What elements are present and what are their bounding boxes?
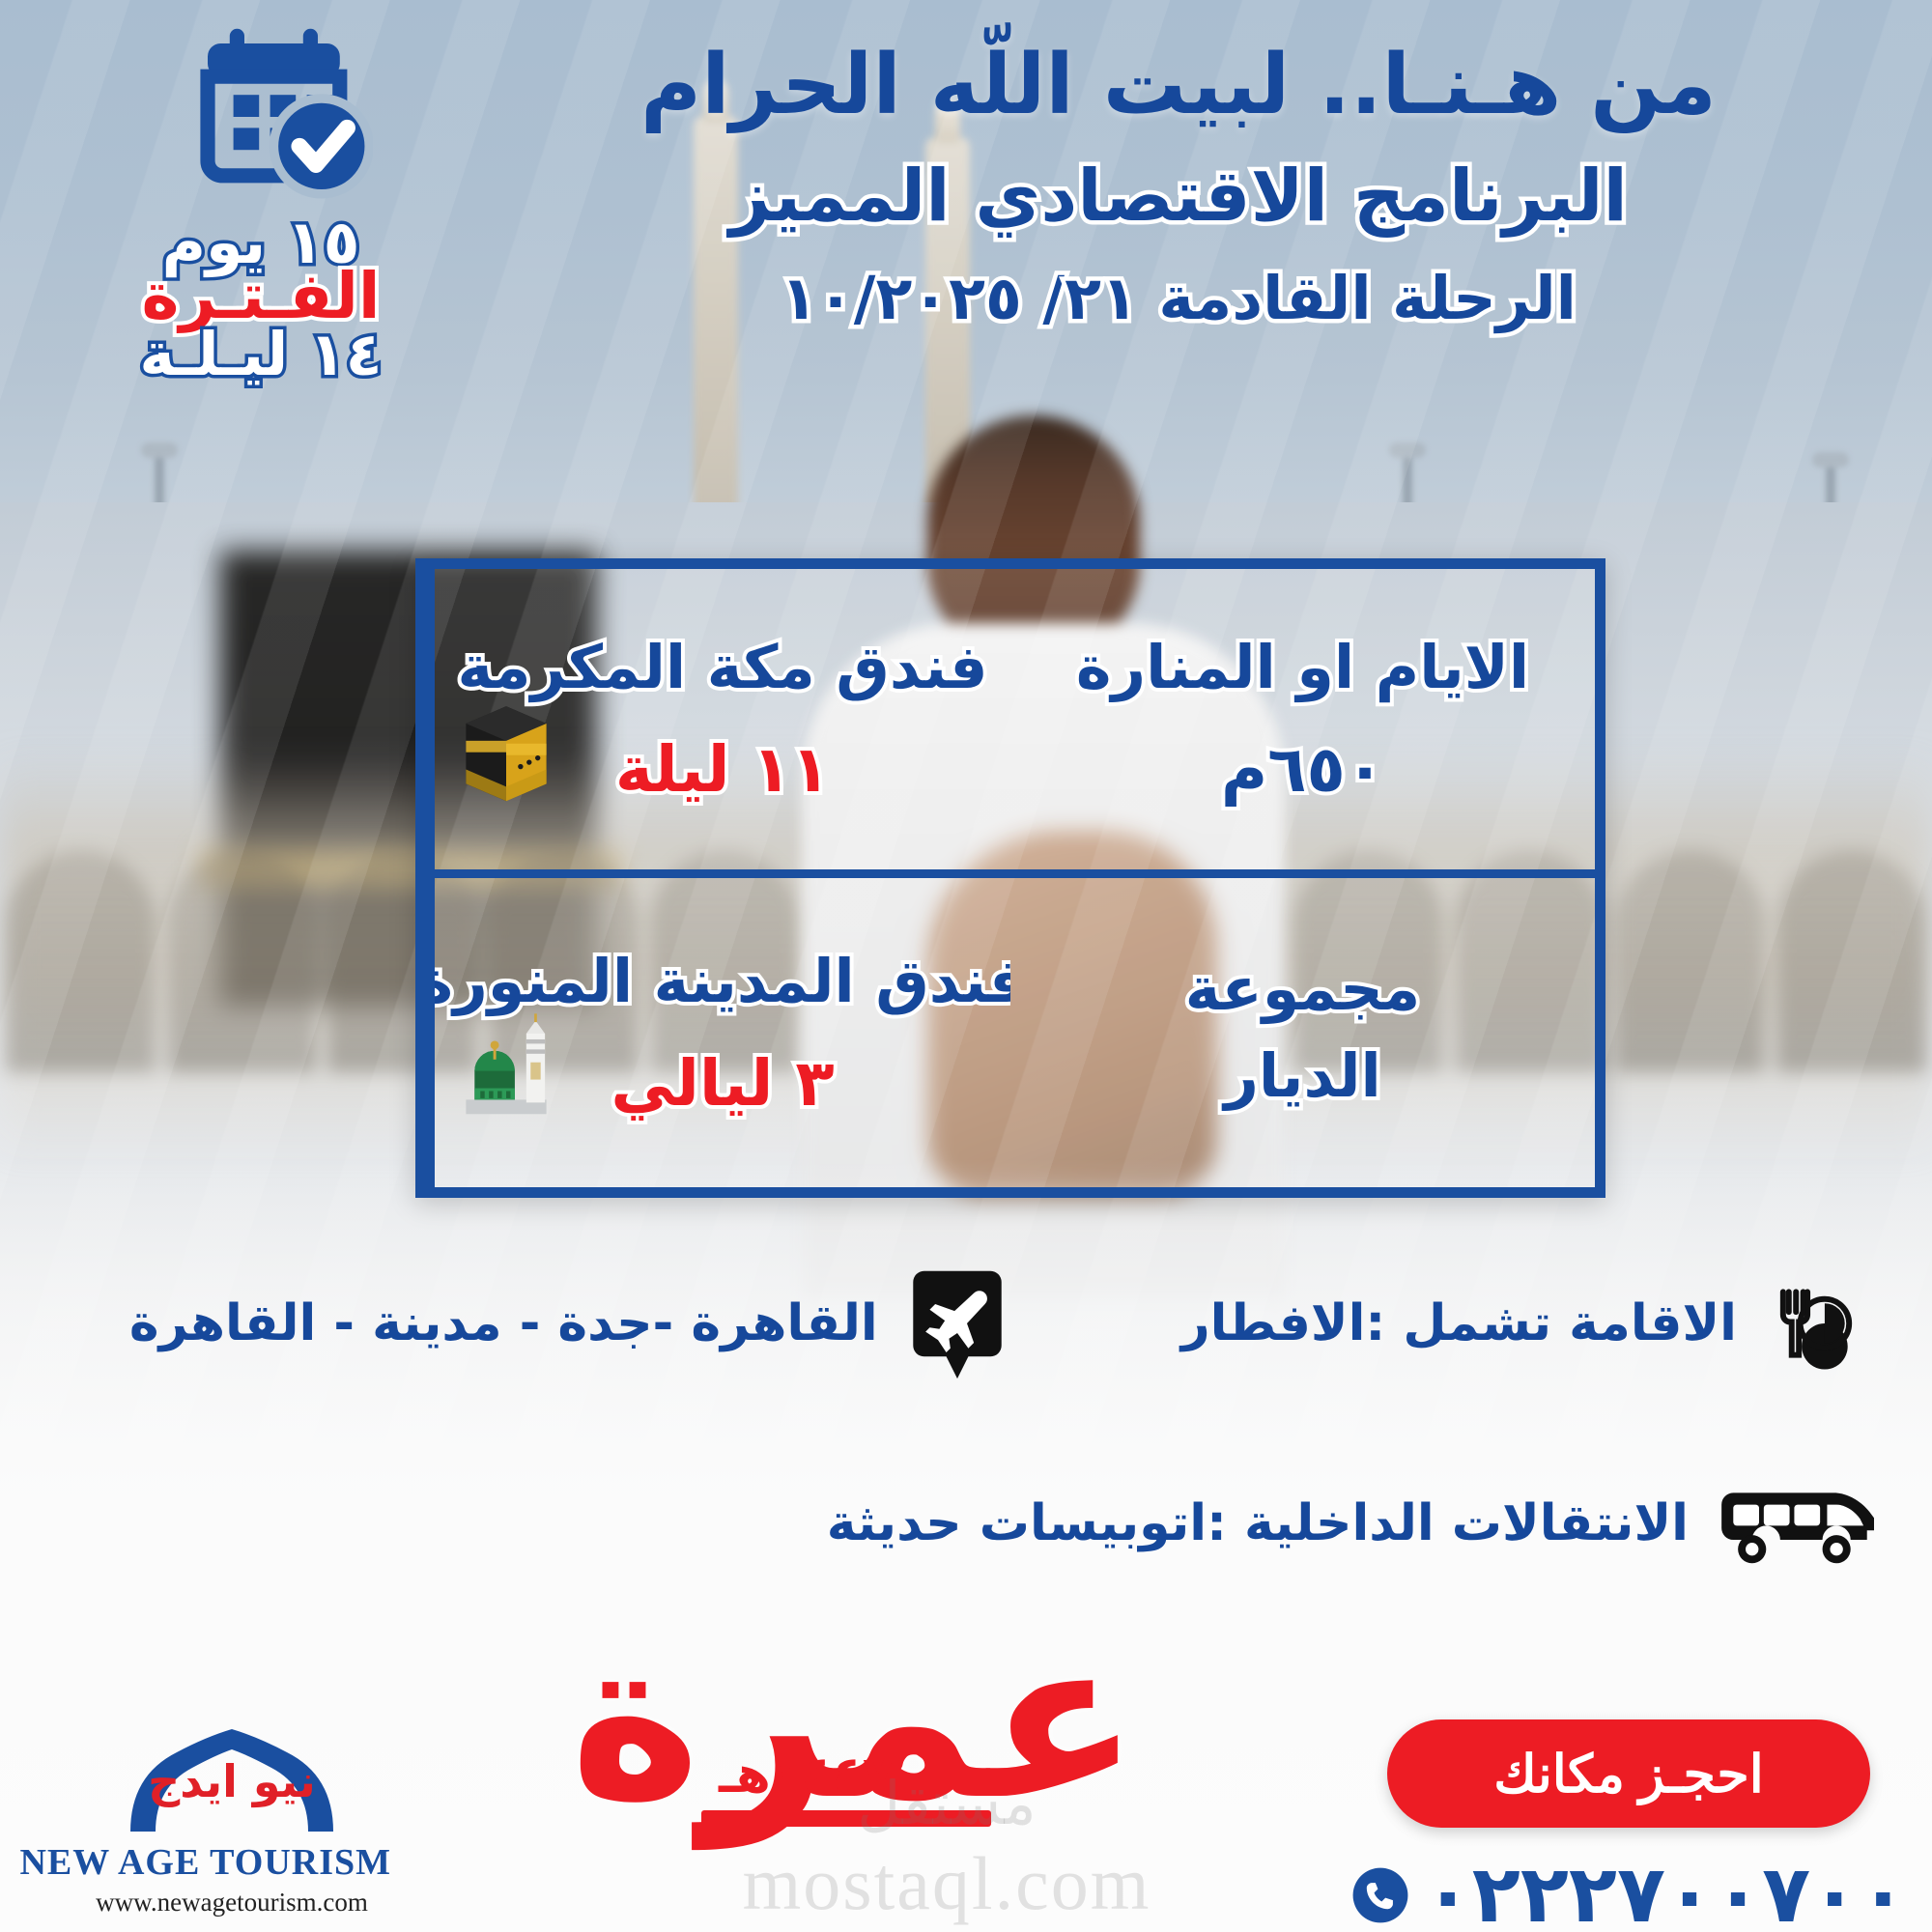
dome-logo-icon: نيو ايدج [111,1727,353,1835]
hotels-table: الايام او المنارة ٦٥٠م فندق مكة المكرمة … [415,558,1605,1198]
makkah-hotel-title: فندق مكة المكرمة [457,633,987,702]
page-title: من هـنـا.. لبيت اللّه الحرام [464,39,1893,131]
fork-plate-icon [1758,1270,1874,1377]
features-section: الاقامة تشمل :الافطار القاهرة -جدة - مدي… [0,1256,1932,1596]
next-trip-date: الرحلة القادمة ٢١/ ١٠/٢٠٢٥ [464,263,1893,333]
umrah-hijri-year: ١٤٤٧هـ [719,1747,894,1804]
makkah-hotel-options: الايام او المنارة [1076,633,1529,702]
contact-phone-number[interactable]: ٠٢٢٢٧٠٠٧٠٠ [1424,1849,1908,1932]
kaaba-icon [460,700,553,807]
duration-nights: ١٤ ليـلـة [77,319,444,389]
flight-route-group: القاهرة -جدة - مدينة - القاهرة [108,1270,1015,1377]
internal-transport-text: الانتقالات الداخلية :اتوبيسات حديثة [806,1494,1710,1552]
makkah-hotel-distance: ٦٥٠م [1221,735,1384,806]
phone-icon [1350,1865,1410,1925]
feature-row-transport: الانتقالات الداخلية :اتوبيسات حديثة [0,1451,1932,1596]
airplane-pin-icon [899,1270,1015,1377]
table-cell-makkah-hotel-name: الايام او المنارة ٦٥٠م [1010,569,1595,878]
cta-block: احجـز مكانك ٠٢٢٢٧٠٠٧٠٠ [1387,1719,1870,1932]
logo-website-url: www.newagetourism.com [72,1888,391,1918]
company-logo-block[interactable]: نيو ايدج NEW AGE TOURISM www.newagetouri… [72,1727,391,1918]
madinah-hotel-group-line1: مجموعة [1185,954,1420,1024]
table-cell-madinah-hotel-name: مجموعة الديار [1010,878,1595,1187]
headline-group: من هـنـا.. لبيت اللّه الحرام البرنامج ال… [464,39,1893,333]
madinah-hotel-nights: ٣ ليالي [611,1049,834,1120]
logo-arabic-name: نيو ايدج [148,1755,316,1807]
bus-icon [1710,1470,1874,1577]
feature-row-meals-flight: الاقامة تشمل :الافطار القاهرة -جدة - مدي… [0,1256,1932,1391]
makkah-hotel-nights: ١١ ليلة [615,735,830,806]
poster-root: ١٥ يوم الفـتـرة ١٤ ليـلـة من هـنـا.. لبي… [0,0,1932,1932]
program-subtitle: البرنامج الاقتصادي المميز [464,155,1893,238]
green-dome-mosque-icon [460,1013,553,1120]
phone-row[interactable]: ٠٢٢٢٧٠٠٧٠٠ [1387,1849,1870,1932]
book-your-place-button[interactable]: احجـز مكانك [1387,1719,1870,1828]
duration-block: ١٥ يوم الفـتـرة ١٤ ليـلـة [77,17,444,404]
flight-route-text: القاهرة -جدة - مدينة - القاهرة [108,1294,899,1352]
umrah-calligraphy-mark: عمرة ١٤٤٧هـ [676,1604,1179,1922]
madinah-hotel-title: فندق المدينة المنورة [426,947,1010,1016]
madinah-hotel-group-line2: الديار [1224,1041,1381,1111]
logo-company-name: NEW AGE TOURISM [72,1841,391,1884]
table-cell-madinah-hotel: فندق المدينة المنورة ٣ ليالي [426,878,1010,1187]
calendar-check-icon [189,25,373,209]
meals-included-text: الاقامة تشمل :الافطار [1160,1294,1758,1352]
umrah-rule-line [701,1810,991,1827]
table-cell-makkah-hotel: فندق مكة المكرمة ١١ ليلة [426,569,1010,878]
